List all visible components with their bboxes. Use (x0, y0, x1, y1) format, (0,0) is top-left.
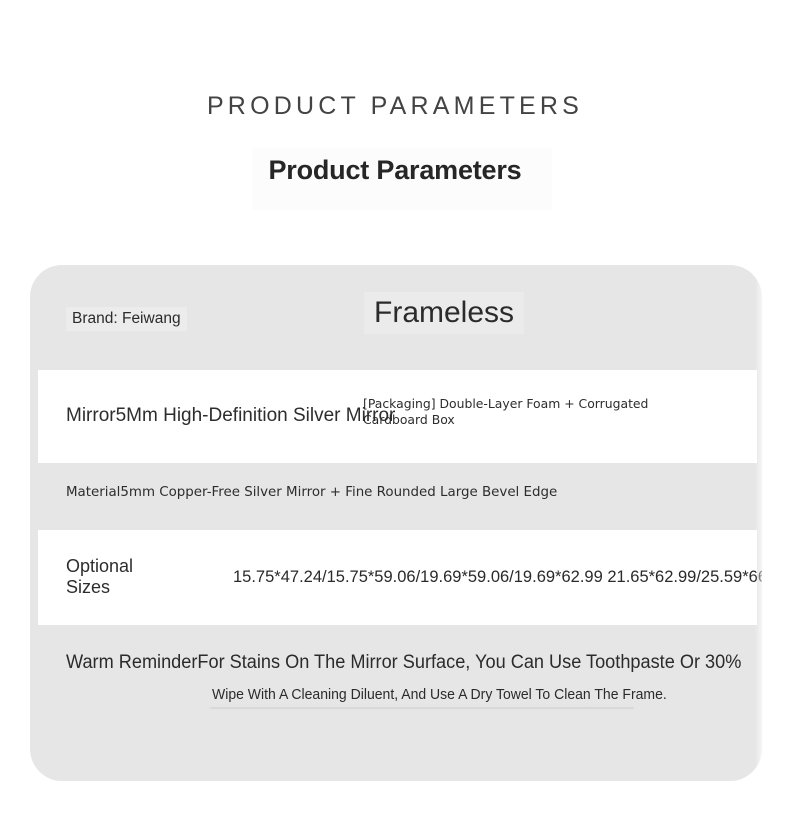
page-eyebrow-title: PRODUCT PARAMETERS (0, 92, 790, 121)
product-parameters-card: Brand: Feiwang Frameless Mirror5Mm High-… (30, 265, 762, 781)
compression-artifact-text: ~~~~~~~~~~~~~~~~~~~~~~~~~~~~~~~~~~~~~~~~… (210, 704, 710, 715)
frame-type-value: Frameless (364, 292, 524, 334)
brand-label: Brand: Feiwang (66, 307, 187, 331)
table-row-mirror: Mirror5Mm High-Definition Silver Mirror … (38, 370, 757, 463)
page-title: Product Parameters (0, 155, 790, 186)
table-row-optional-sizes: Optional Sizes 15.75*47.24/15.75*59.06/1… (38, 530, 757, 625)
optional-sizes-label: Optional Sizes (66, 556, 176, 598)
mirror-spec-label: Mirror5Mm High-Definition Silver Mirror (66, 405, 395, 427)
warm-reminder-label: Warm ReminderFor Stains On The Mirror Su… (66, 652, 741, 674)
table-row-warm-reminder: Warm ReminderFor Stains On The Mirror Su… (30, 625, 762, 781)
optional-sizes-value: 15.75*47.24/15.75*59.06/19.69*59.06/19.6… (233, 568, 762, 587)
warm-reminder-value: Wipe With A Cleaning Diluent, And Use A … (212, 687, 667, 703)
table-row-material: Material5mm Copper-Free Silver Mirror + … (30, 463, 762, 530)
material-label: Material5mm Copper-Free Silver Mirror + … (66, 485, 557, 500)
packaging-value: [Packaging] Double-Layer Foam + Corrugat… (363, 396, 693, 428)
table-row-brand: Brand: Feiwang Frameless (30, 265, 762, 370)
